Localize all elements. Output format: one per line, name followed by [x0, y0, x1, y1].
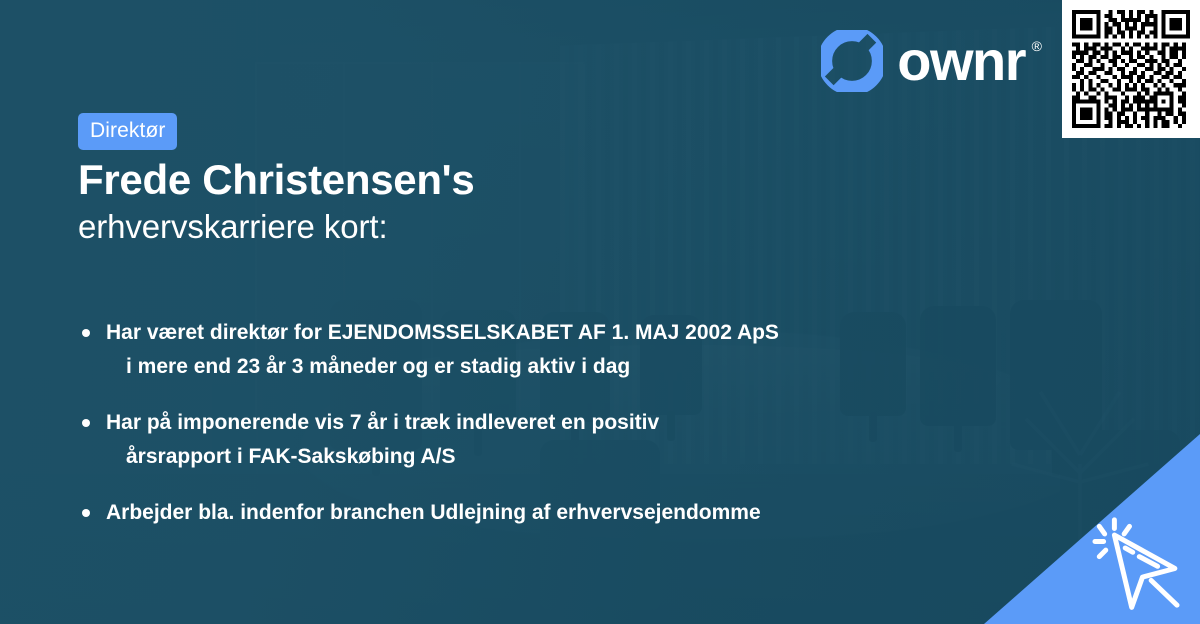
bullet-dot-icon	[82, 329, 90, 337]
click-cursor-icon	[1082, 508, 1190, 616]
ownr-wordmark: ownr ®	[897, 33, 1025, 89]
headline-line-2: erhvervskarriere kort:	[78, 207, 1058, 247]
bullet-line-1: Arbejder bla. indenfor branchen Udlejnin…	[106, 501, 761, 524]
career-highlights-list: Har været direktør for EJENDOMSSELSKABET…	[78, 316, 1078, 530]
bullet-line-1: Har på imponerende vis 7 år i træk indle…	[106, 411, 659, 434]
page-title: Frede Christensen's erhvervskarriere kor…	[78, 156, 1058, 247]
list-item: Har på imponerende vis 7 år i træk indle…	[78, 406, 1078, 474]
bullet-dot-icon	[82, 419, 90, 427]
ownr-logo-mark-icon	[821, 30, 883, 92]
list-item: Arbejder bla. indenfor branchen Udlejnin…	[78, 496, 1078, 530]
bullet-line-2: årsrapport i FAK-Sakskøbing A/S	[106, 440, 1078, 474]
registered-trademark-icon: ®	[1032, 39, 1042, 53]
ownr-logo: ownr ®	[821, 30, 1025, 92]
headline-line-1: Frede Christensen's	[78, 156, 1058, 203]
promo-card: Direktør Frede Christensen's erhvervskar…	[0, 0, 1200, 624]
role-badge: Direktør	[78, 113, 177, 150]
bullet-line-2: i mere end 23 år 3 måneder og er stadig …	[106, 350, 1078, 384]
bullet-line-1: Har været direktør for EJENDOMSSELSKABET…	[106, 321, 779, 344]
qr-code[interactable]	[1062, 0, 1200, 138]
card-content: Direktør Frede Christensen's erhvervskar…	[0, 0, 1200, 624]
ownr-wordmark-text: ownr	[897, 29, 1025, 92]
list-item: Har været direktør for EJENDOMSSELSKABET…	[78, 316, 1078, 384]
bullet-dot-icon	[82, 509, 90, 517]
qr-code-image	[1072, 10, 1190, 128]
